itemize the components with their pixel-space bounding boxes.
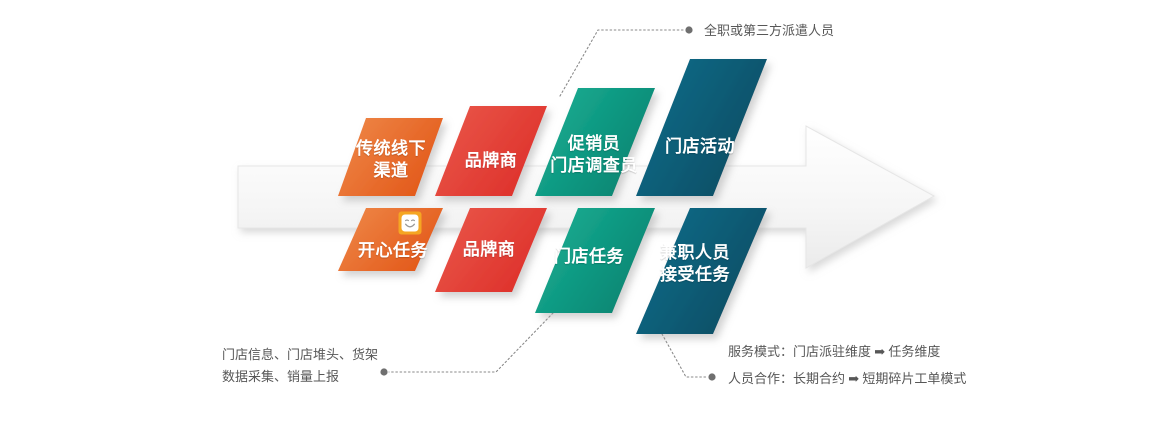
connector-bottom-left (389, 313, 553, 372)
connector-lines (0, 0, 1150, 430)
diagram-canvas: 传统线下 渠道 品牌商 促销员 门店调查员 门店活动 开心任务 品牌商 门店任务… (0, 0, 1150, 430)
label-text: 开心任务 (358, 240, 428, 262)
label-text: 品牌商 (463, 239, 516, 261)
note-bottom-right-line1: 服务模式：门店派驻维度 ➡ 任务维度 (728, 341, 940, 363)
connector-top-right (560, 30, 683, 96)
label-text: 品牌商 (465, 150, 518, 172)
connector-dot-top-right (685, 26, 692, 33)
note-bottom-left: 门店信息、门店堆头、货架 数据采集、销量上报 (222, 344, 378, 388)
connector-dot-bottom-right (708, 373, 715, 380)
smiley-face-icon (398, 211, 422, 241)
connector-dot-bottom-left (380, 368, 387, 375)
note-top-right: 全职或第三方派遣人员 (704, 20, 834, 42)
top-row-shapes (0, 0, 1150, 430)
label-text: 兼职人员 接受任务 (660, 242, 730, 287)
bottom-row-shapes (0, 0, 1150, 430)
connector-bottom-right (662, 334, 707, 377)
label-text: 门店活动 (665, 136, 735, 158)
bottom-label-part-time-accept-task[interactable]: 兼职人员 接受任务 (632, 220, 758, 308)
top-label-store-activity[interactable]: 门店活动 (636, 98, 764, 196)
note-bottom-right-line2: 人员合作：长期合约 ➡ 短期碎片工单模式 (728, 368, 966, 390)
label-text: 促销员 门店调查员 (550, 133, 638, 178)
label-text: 传统线下 渠道 (356, 138, 426, 183)
process-arrow (0, 0, 1150, 430)
label-text: 门店任务 (554, 246, 624, 268)
